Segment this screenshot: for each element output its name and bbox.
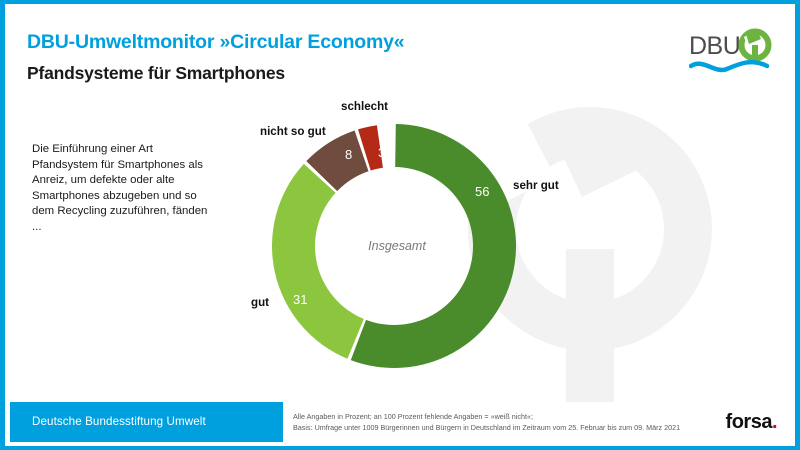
chart-value-sehr-gut: 56 <box>475 184 489 199</box>
footer-organization: Deutsche Bundesstiftung Umwelt <box>32 415 206 428</box>
page-subtitle: Pfandsysteme für Smartphones <box>27 63 285 84</box>
chart-label-schlecht: schlecht <box>341 100 388 113</box>
page-title: DBU-Umweltmonitor »Circular Economy« <box>27 31 404 54</box>
forsa-logo-dot: . <box>772 411 777 433</box>
dbu-q-mark <box>742 30 769 65</box>
chart-value-nicht-so-gut: 8 <box>345 147 352 162</box>
intro-paragraph: Die Einführung einer Art Pfandsystem für… <box>32 142 212 236</box>
donut-segment-gut[interactable] <box>272 164 364 359</box>
chart-value-gut: 31 <box>293 292 307 307</box>
chart-label-gut: gut <box>251 296 269 309</box>
svg-text:DBU: DBU <box>689 32 740 60</box>
forsa-logo-text: forsa <box>726 411 772 433</box>
dbu-logo: DBU <box>689 28 775 74</box>
donut-center-label: Insgesamt <box>267 239 527 253</box>
chart-label-nicht-so-gut: nicht so gut <box>260 125 326 138</box>
header: DBU-Umweltmonitor »Circular Economy« Pfa… <box>5 4 795 96</box>
chart-value-schlecht: 3 <box>378 145 385 160</box>
footer-note-line1: Alle Angaben in Prozent; an 100 Prozent … <box>293 412 693 423</box>
footer-note-line2: Basis: Umfrage unter 1009 Bürgerinnen un… <box>293 423 693 434</box>
chart-label-sehr-gut: sehr gut <box>513 179 559 192</box>
slide-canvas: DBU-Umweltmonitor »Circular Economy« Pfa… <box>0 0 800 450</box>
forsa-logo: forsa. <box>726 411 777 434</box>
footer-notes: Alle Angaben in Prozent; an 100 Prozent … <box>293 412 693 433</box>
